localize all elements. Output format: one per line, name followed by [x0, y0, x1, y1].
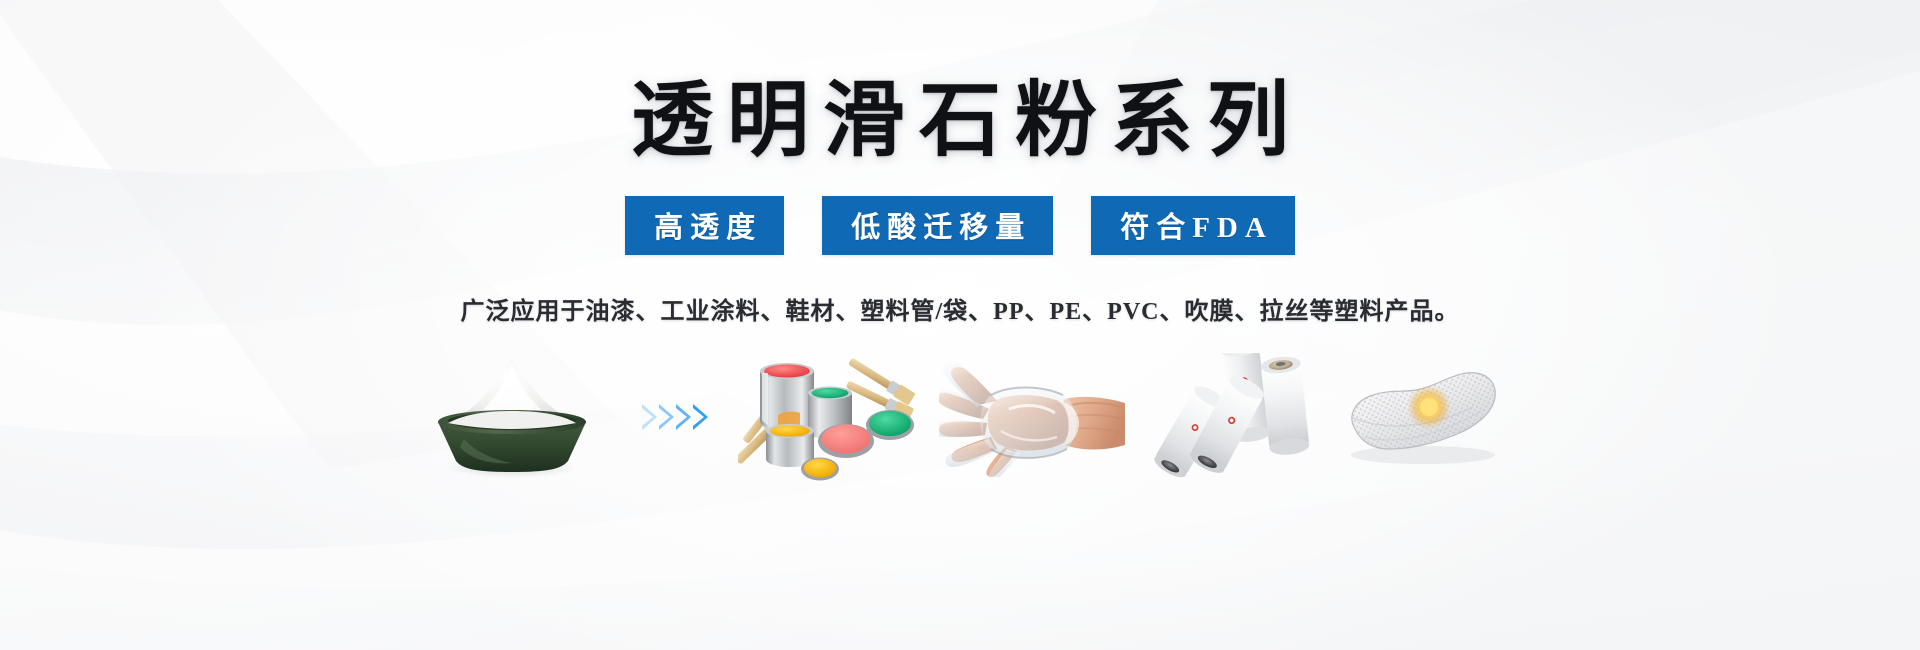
chevron-right-icon [642, 404, 657, 430]
badge-low-acid-migration: 低酸迁移量 [822, 196, 1053, 255]
application-description: 广泛应用于油漆、工业涂料、鞋材、塑料管/袋、PP、PE、PVC、吹膜、拉丝等塑料… [461, 291, 1460, 326]
page-title: 透明滑石粉系列 [617, 78, 1303, 164]
chevron-right-icon-group [642, 404, 708, 430]
product-shoe-sole [1331, 352, 1510, 482]
talc-powder-bowl-icon [412, 355, 612, 480]
product-banner: 透明滑石粉系列 高透度 低酸迁移量 符合FDA 广泛应用于油漆、工业涂料、鞋材、… [0, 0, 1920, 650]
paint-cans-icon [738, 353, 928, 481]
process-arrow [621, 352, 727, 482]
product-paint-cans [736, 352, 930, 482]
chevron-right-icon [676, 404, 691, 430]
shoe-sole-icon [1333, 357, 1508, 477]
feature-badge-row: 高透度 低酸迁移量 符合FDA [625, 196, 1295, 255]
badge-fda-compliant: 符合FDA [1091, 196, 1295, 255]
chevron-right-icon [693, 404, 708, 430]
product-talc-powder-bowl [410, 352, 613, 482]
badge-high-transparency: 高透度 [625, 196, 784, 255]
banner-content: 透明滑石粉系列 高透度 低酸迁移量 符合FDA 广泛应用于油漆、工业涂料、鞋材、… [0, 0, 1920, 650]
chevron-right-icon [659, 404, 674, 430]
plastic-glove-hand-icon [939, 357, 1129, 477]
product-plastic-glove-hand [937, 352, 1131, 482]
plastic-film-rolls-icon [1141, 353, 1321, 481]
product-image-strip [410, 352, 1510, 482]
product-plastic-film-rolls [1139, 352, 1323, 482]
